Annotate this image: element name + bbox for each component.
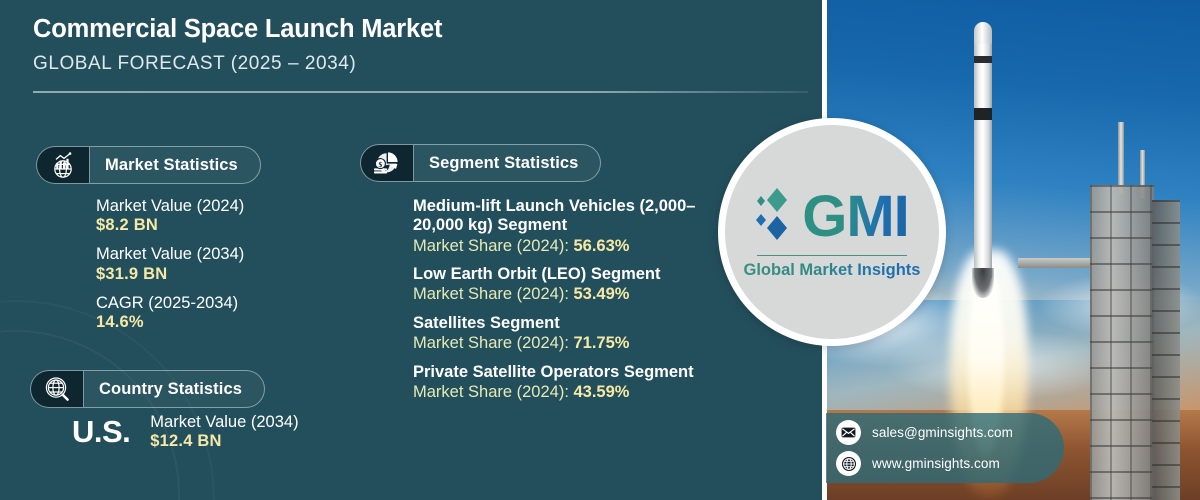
envelope-icon — [836, 420, 861, 445]
launch-tower — [1090, 185, 1154, 500]
logo-wordmark-row: GMI — [755, 184, 909, 251]
country-statistics-body: U.S. Market Value (2034) $12.4 BN — [72, 411, 299, 452]
segment-name: Satellites Segment — [413, 314, 713, 333]
stat-item: CAGR (2025-2034) 14.6% — [96, 294, 244, 333]
market-statistics-label: Market Statistics — [105, 156, 238, 175]
page-title: Commercial Space Launch Market — [33, 14, 793, 46]
tower-mast — [1118, 122, 1124, 194]
globe-bar-chart-icon — [36, 146, 90, 184]
segment-item: Private Satellite Operators Segment Mark… — [413, 363, 713, 404]
svg-text:$: $ — [379, 160, 383, 169]
tower-service-arm — [1018, 258, 1096, 268]
segment-statistics-label: Segment Statistics — [429, 154, 578, 173]
segment-share-label: Market Share (2024): — [413, 237, 569, 255]
segment-share-label: Market Share (2024): — [413, 285, 569, 303]
rocket-body — [974, 40, 992, 280]
segment-statistics-list: Medium-lift Launch Vehicles (2,000–20,00… — [413, 197, 713, 403]
segment-item: Low Earth Orbit (LEO) Segment Market Sha… — [413, 265, 713, 306]
stat-value: $31.9 BN — [96, 265, 244, 285]
stat-item: Market Value (2034) $12.4 BN — [150, 411, 298, 452]
gmi-diamond-logo-icon — [755, 184, 797, 251]
stat-item: Market Value (2034) $31.9 BN — [96, 245, 244, 284]
segment-share-value: 71.75% — [574, 334, 630, 352]
contact-website[interactable]: www.gminsights.com — [872, 456, 1000, 471]
stat-value: 14.6% — [96, 313, 244, 333]
rocket-band — [974, 108, 992, 120]
segment-share: Market Share (2024): 56.63% — [413, 236, 713, 257]
rocket-nose-cone — [974, 22, 992, 44]
contact-website-row[interactable]: www.gminsights.com — [836, 451, 1064, 476]
segment-name: Medium-lift Launch Vehicles (2,000–20,00… — [413, 197, 713, 236]
segment-share-label: Market Share (2024): — [413, 334, 569, 352]
pie-chart-money-icon: $ — [360, 144, 414, 182]
launch-tower-secondary — [1152, 200, 1180, 500]
stat-value: $8.2 BN — [96, 216, 244, 236]
page-subtitle: GLOBAL FORECAST (2025 – 2034) — [33, 53, 793, 75]
gmi-logo-badge: GMI Global Market Insights — [718, 118, 946, 346]
stat-item: Market Value (2024) $8.2 BN — [96, 197, 244, 236]
segment-share: Market Share (2024): 43.59% — [413, 382, 713, 403]
segment-share-label: Market Share (2024): — [413, 383, 569, 401]
left-content-panel: Commercial Space Launch Market GLOBAL FO… — [0, 0, 822, 500]
segment-item: Satellites Segment Market Share (2024): … — [413, 314, 713, 355]
contact-email[interactable]: sales@gminsights.com — [872, 425, 1013, 440]
logo-divider — [757, 255, 907, 257]
rocket-band — [974, 56, 992, 63]
country-code: U.S. — [72, 416, 130, 447]
segment-share: Market Share (2024): 71.75% — [413, 333, 713, 354]
segment-share: Market Share (2024): 53.49% — [413, 284, 713, 305]
country-statistics-label: Country Statistics — [99, 380, 242, 399]
segment-name: Private Satellite Operators Segment — [413, 363, 713, 382]
segment-share-value: 56.63% — [574, 237, 630, 255]
market-statistics-list: Market Value (2024) $8.2 BN Market Value… — [96, 197, 244, 333]
segment-share-value: 53.49% — [574, 285, 630, 303]
logo-wordmark: GMI — [802, 188, 909, 246]
stat-label: CAGR (2025-2034) — [96, 294, 244, 313]
stat-label: Market Value (2034) — [96, 245, 244, 264]
segment-share-value: 43.59% — [574, 383, 630, 401]
title-block: Commercial Space Launch Market GLOBAL FO… — [33, 14, 793, 75]
title-divider — [33, 91, 808, 93]
segment-name: Low Earth Orbit (LEO) Segment — [413, 265, 713, 284]
contact-email-row[interactable]: sales@gminsights.com — [836, 420, 1064, 445]
globe-icon — [836, 451, 861, 476]
rocket-engine-flare — [972, 268, 994, 298]
contact-info-box: sales@gminsights.com www.gminsights.com — [826, 413, 1064, 483]
stat-value: $12.4 BN — [150, 432, 298, 452]
stat-label: Market Value (2034) — [150, 413, 298, 432]
stat-label: Market Value (2024) — [96, 197, 244, 216]
segment-item: Medium-lift Launch Vehicles (2,000–20,00… — [413, 197, 713, 257]
globe-magnifier-icon — [30, 370, 84, 408]
infographic-canvas: Commercial Space Launch Market GLOBAL FO… — [0, 0, 1200, 500]
logo-tagline: Global Market Insights — [744, 261, 921, 280]
